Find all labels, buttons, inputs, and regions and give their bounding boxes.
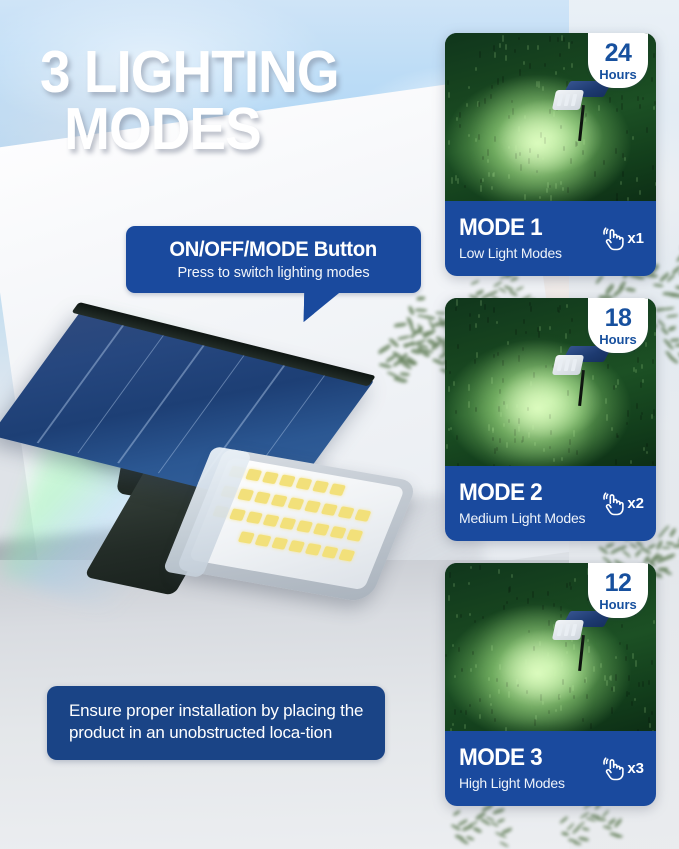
mode-label-group: MODE 1Low Light Modes bbox=[459, 216, 601, 261]
mode-subtitle: Medium Light Modes bbox=[459, 510, 601, 526]
title-line-2: MODES bbox=[40, 101, 412, 158]
solar-light-in-lawn bbox=[554, 346, 610, 408]
mini-lamp-head bbox=[551, 620, 583, 640]
solar-light-in-lawn bbox=[554, 81, 610, 143]
badge-hours-unit: Hours bbox=[599, 333, 637, 346]
press-count-label: x1 bbox=[627, 230, 644, 247]
product-infographic-poster: 3 LIGHTING MODES ON/OFF/MODE Button Pres… bbox=[0, 0, 679, 849]
callout-title: ON/OFF/MODE Button bbox=[170, 238, 378, 262]
installation-note: Ensure proper installation by placing th… bbox=[47, 686, 385, 760]
mode-photo-1: 24Hours bbox=[445, 33, 656, 211]
solar-wall-light-product-image bbox=[55, 300, 435, 600]
mini-ground-stake bbox=[578, 635, 585, 671]
onoff-mode-callout: ON/OFF/MODE Button Press to switch light… bbox=[126, 226, 421, 293]
press-count-label: x2 bbox=[627, 495, 644, 512]
callout-subtitle: Press to switch lighting modes bbox=[177, 265, 369, 281]
mode-footer-1: MODE 1Low Light Modesx1 bbox=[445, 201, 656, 276]
mini-ground-stake bbox=[578, 105, 585, 141]
mode-card-1[interactable]: 24HoursMODE 1Low Light Modesx1 bbox=[445, 33, 656, 276]
page-title: 3 LIGHTING MODES bbox=[40, 44, 412, 157]
mode-photo-3: 12Hours bbox=[445, 563, 656, 741]
mini-lamp-head bbox=[551, 90, 583, 110]
mode-card-2[interactable]: 18HoursMODE 2Medium Light Modesx2 bbox=[445, 298, 656, 541]
mode-subtitle: High Light Modes bbox=[459, 775, 601, 791]
badge-hours-unit: Hours bbox=[599, 68, 637, 81]
mode-photo-2: 18Hours bbox=[445, 298, 656, 476]
press-count-group: x1 bbox=[601, 226, 644, 252]
runtime-badge-1: 24Hours bbox=[588, 33, 648, 88]
mode-cards-list: 24HoursMODE 1Low Light Modesx118HoursMOD… bbox=[445, 33, 656, 828]
runtime-badge-2: 18Hours bbox=[588, 298, 648, 353]
mini-lamp-head bbox=[551, 355, 583, 375]
mode-title: MODE 3 bbox=[459, 746, 593, 770]
badge-hours-number: 12 bbox=[605, 571, 632, 596]
hand-tap-icon bbox=[601, 756, 625, 782]
press-count-group: x3 bbox=[601, 756, 644, 782]
mode-label-group: MODE 3High Light Modes bbox=[459, 746, 601, 791]
mode-title: MODE 1 bbox=[459, 216, 593, 240]
hand-tap-icon bbox=[601, 226, 625, 252]
press-count-label: x3 bbox=[627, 760, 644, 777]
mini-ground-stake bbox=[578, 370, 585, 406]
mode-subtitle: Low Light Modes bbox=[459, 245, 601, 261]
hand-tap-icon bbox=[601, 491, 625, 517]
mode-label-group: MODE 2Medium Light Modes bbox=[459, 481, 601, 526]
badge-hours-number: 18 bbox=[605, 306, 632, 331]
mode-title: MODE 2 bbox=[459, 481, 593, 505]
runtime-badge-3: 12Hours bbox=[588, 563, 648, 618]
press-count-group: x2 bbox=[601, 491, 644, 517]
badge-hours-unit: Hours bbox=[599, 598, 637, 611]
badge-hours-number: 24 bbox=[605, 41, 632, 66]
mode-card-3[interactable]: 12HoursMODE 3High Light Modesx3 bbox=[445, 563, 656, 806]
solar-light-in-lawn bbox=[554, 611, 610, 673]
mode-footer-3: MODE 3High Light Modesx3 bbox=[445, 731, 656, 806]
mode-footer-2: MODE 2Medium Light Modesx2 bbox=[445, 466, 656, 541]
